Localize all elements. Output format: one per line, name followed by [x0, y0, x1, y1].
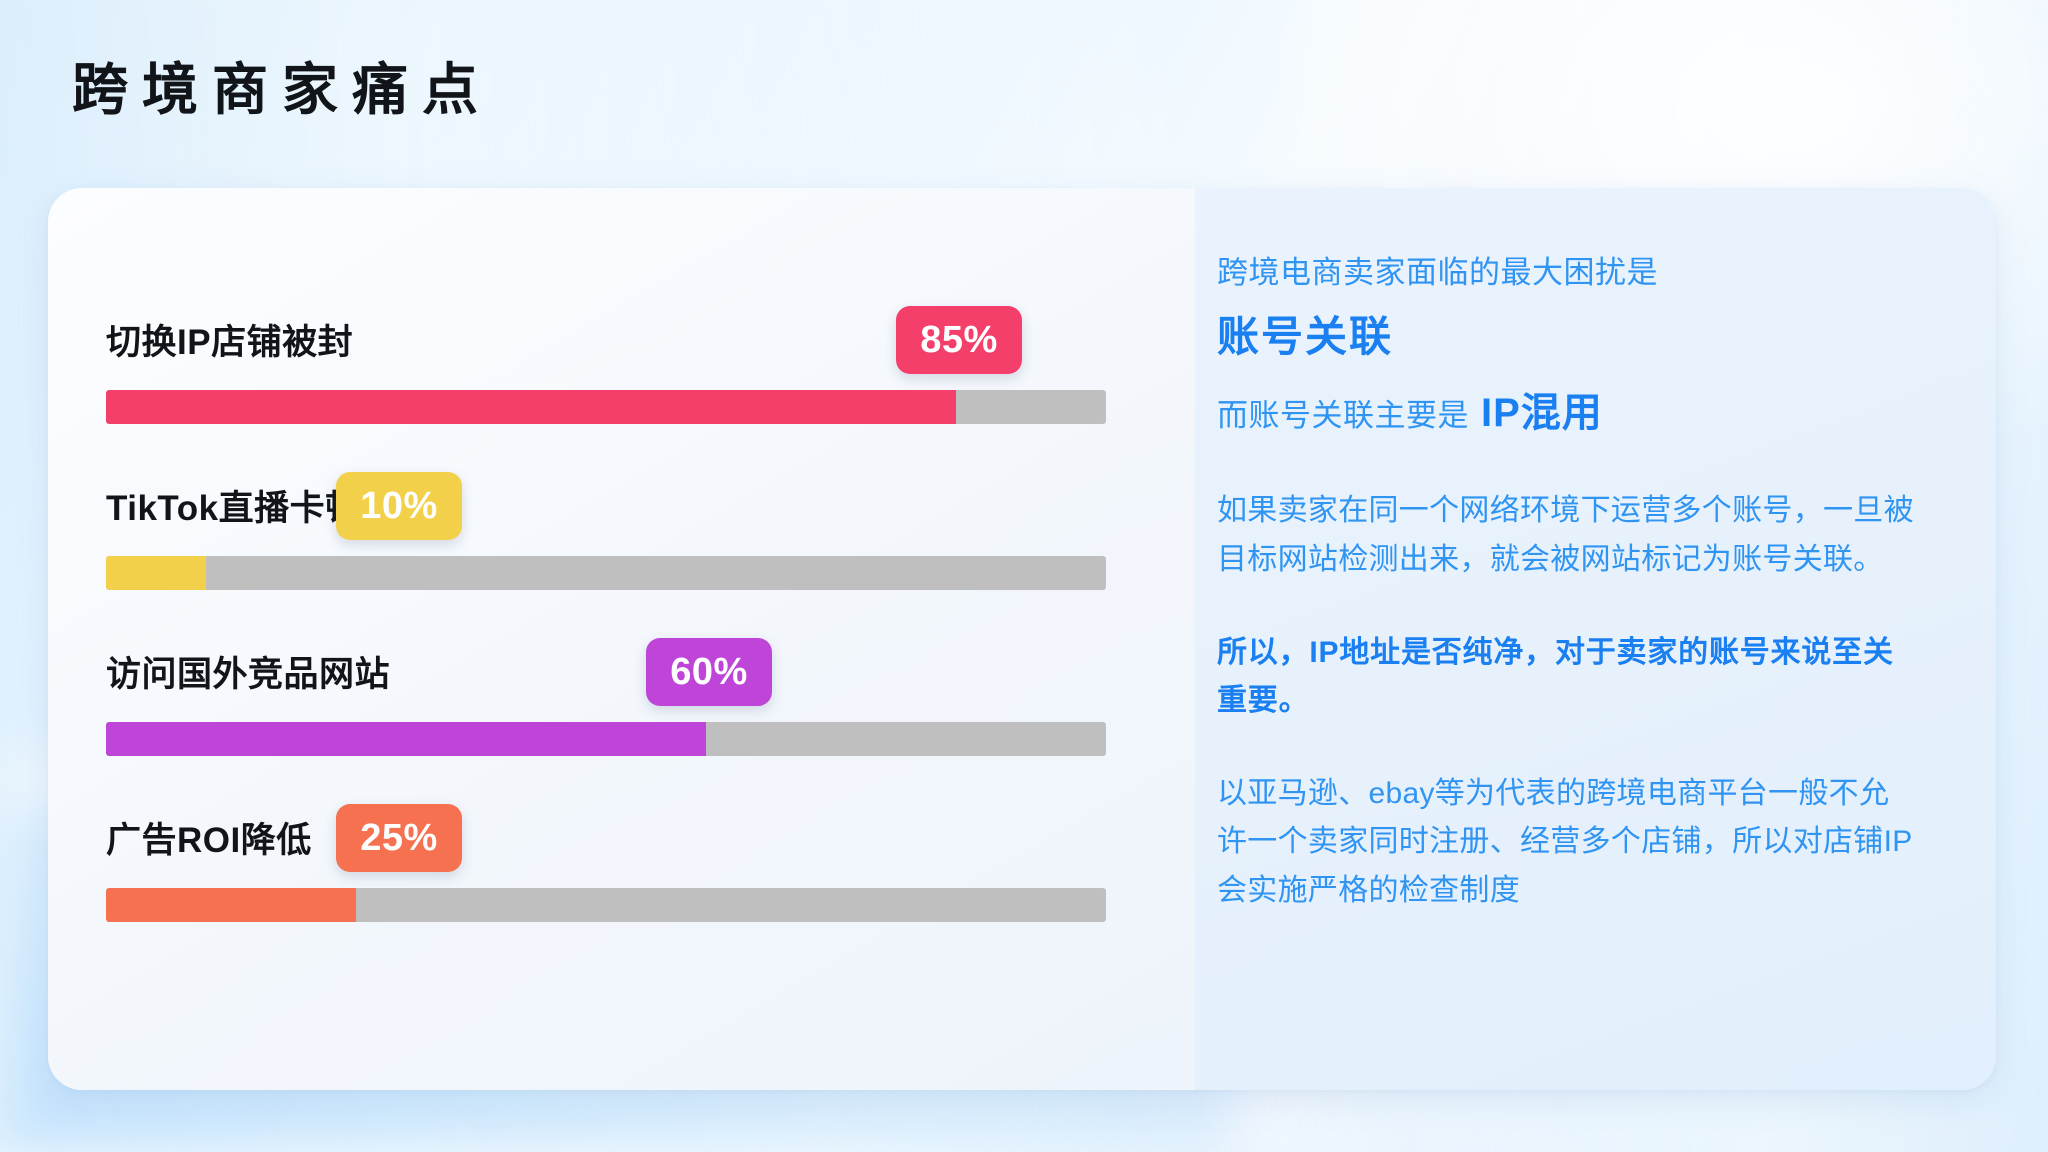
paragraph-platform-policy: 以亚马逊、ebay等为代表的跨境电商平台一般不允许一个卖家同时注册、经营多个店铺… — [1217, 770, 1917, 916]
bar-track — [106, 390, 1106, 424]
bar-label: 切换IP店铺被封 — [106, 314, 353, 365]
bar-track — [106, 556, 1106, 590]
subheading-row: 而账号关联主要是 IP混用 — [1217, 383, 1926, 443]
bar-fill — [106, 722, 706, 756]
lead-text: 跨境电商卖家面临的最大困扰是 — [1217, 250, 1926, 297]
bar-track — [106, 888, 1106, 922]
bar-value-badge: 25% — [336, 804, 462, 872]
bar-chart: 切换IP店铺被封85%TikTok直播卡顿10%访问国外竞品网站60%广告ROI… — [106, 300, 1155, 964]
bar-item: TikTok直播卡顿10% — [106, 466, 1155, 632]
bar-header: TikTok直播卡顿10% — [106, 466, 1155, 544]
bar-label: TikTok直播卡顿 — [106, 480, 361, 531]
bar-item: 切换IP店铺被封85% — [106, 300, 1155, 466]
hero-keyword: 账号关联 — [1217, 307, 1926, 368]
bar-fill — [106, 556, 206, 590]
bar-fill — [106, 888, 356, 922]
bar-header: 广告ROI降低25% — [106, 798, 1155, 876]
pain-point-chart-panel: 切换IP店铺被封85%TikTok直播卡顿10%访问国外竞品网站60%广告ROI… — [48, 188, 1195, 1090]
subheading-prefix: 而账号关联主要是 — [1217, 393, 1469, 440]
bar-item: 访问国外竞品网站60% — [106, 632, 1155, 798]
bar-label: 广告ROI降低 — [106, 812, 312, 863]
bar-header: 切换IP店铺被封85% — [106, 300, 1155, 378]
bar-fill — [106, 390, 956, 424]
bar-track — [106, 722, 1106, 756]
bar-value-badge: 85% — [896, 306, 1022, 374]
explanation-panel: 跨境电商卖家面临的最大困扰是 账号关联 而账号关联主要是 IP混用 如果卖家在同… — [1195, 188, 1996, 1090]
bar-header: 访问国外竞品网站60% — [106, 632, 1155, 710]
subheading-keyword: IP混用 — [1481, 383, 1603, 443]
bar-value-badge: 60% — [646, 638, 772, 706]
bar-item: 广告ROI降低25% — [106, 798, 1155, 964]
paragraph-account-association: 如果卖家在同一个网络环境下运营多个账号，一旦被目标网站检测出来，就会被网站标记为… — [1217, 487, 1917, 584]
bar-label: 访问国外竞品网站 — [106, 646, 390, 697]
content-card: 切换IP店铺被封85%TikTok直播卡顿10%访问国外竞品网站60%广告ROI… — [48, 188, 1996, 1090]
bar-value-badge: 10% — [336, 472, 462, 540]
paragraph-ip-purity: 所以，IP地址是否纯净，对于卖家的账号来说至关重要。 — [1217, 629, 1917, 726]
page-title: 跨境商家痛点 — [72, 58, 492, 122]
